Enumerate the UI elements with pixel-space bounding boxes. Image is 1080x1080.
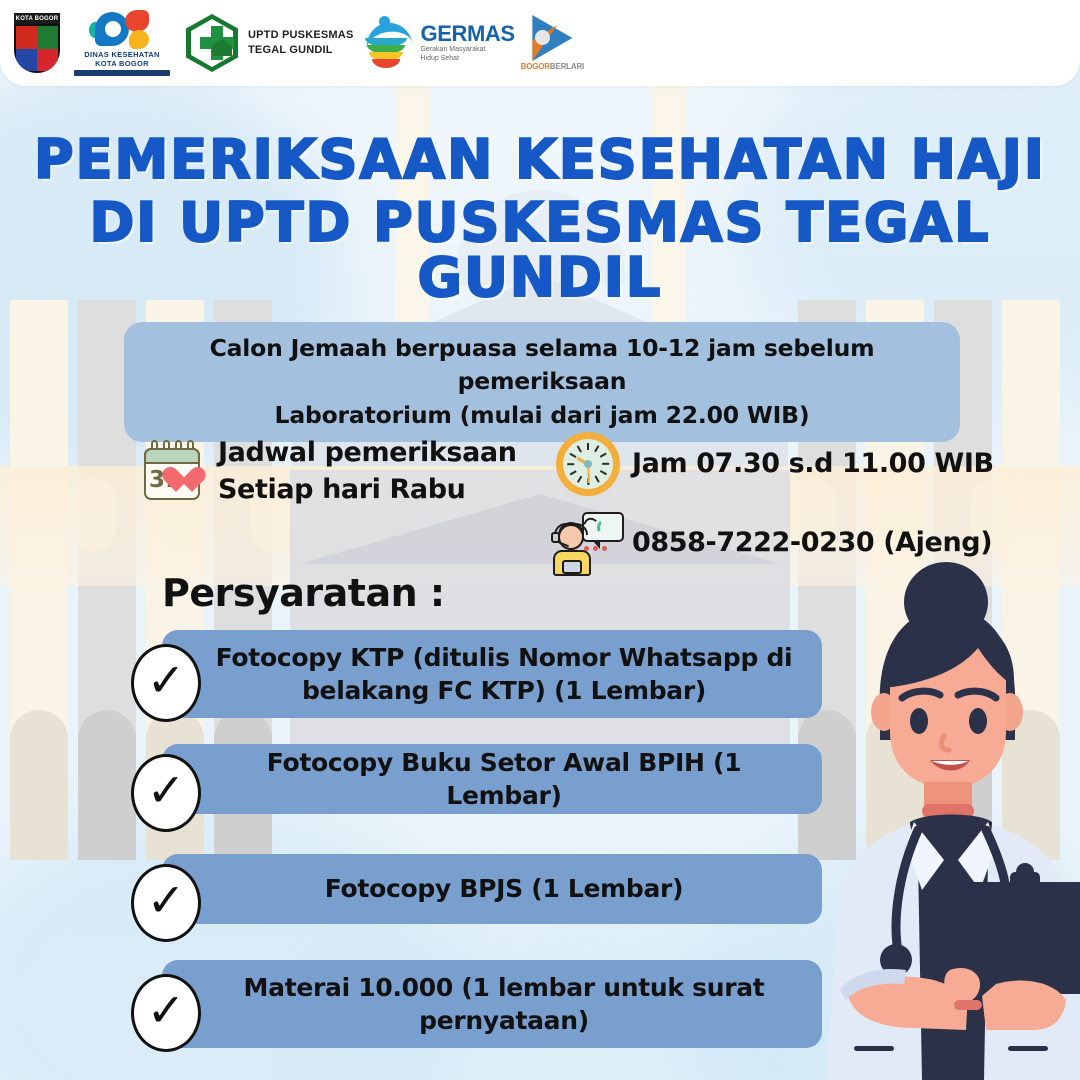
requirement-line-2: belakang FC KTP) (1 Lembar) bbox=[216, 674, 793, 707]
puskesmas-line2: TEGAL GUNDIL bbox=[248, 43, 353, 58]
customer-service-icon bbox=[548, 510, 620, 576]
germas-logo: GERMAS Gerakan Masyarakat Hidup Sehat bbox=[359, 14, 514, 72]
kota-bogor-emblem: KOTA BOGOR bbox=[14, 13, 60, 73]
title-line-1: PEMERIKSAAN KESEHATAN HAJI bbox=[0, 132, 1080, 187]
requirement-line-1: Fotocopy KTP (ditulis Nomor Whatsapp di bbox=[216, 641, 793, 674]
dinkes-line2: KOTA BOGOR bbox=[84, 59, 159, 68]
check-icon: ✓ bbox=[131, 864, 201, 942]
check-icon: ✓ bbox=[131, 754, 201, 832]
heart-icon bbox=[170, 466, 200, 494]
green-hex-cross-icon bbox=[184, 13, 240, 73]
requirement-pill: Fotocopy Buku Setor Awal BPIH (1 Lembar) bbox=[162, 744, 822, 814]
germas-sub1: Gerakan Masyarakat bbox=[420, 46, 514, 55]
hours-text: Jam 07.30 s.d 11.00 WIB bbox=[632, 445, 994, 482]
check-glyph: ✓ bbox=[147, 767, 186, 813]
requirement-pill: Fotocopy BPJS (1 Lembar) bbox=[162, 854, 822, 924]
bogor-berlari-word-b: BERLARI bbox=[550, 62, 584, 71]
requirement-line-1: Fotocopy BPJS (1 Lembar) bbox=[325, 872, 683, 905]
logo-bar: KOTA BOGOR DINAS KESEHATAN KOTA BOGOR bbox=[0, 0, 1080, 86]
fasting-notice-banner: Calon Jemaah berpuasa selama 10-12 jam s… bbox=[124, 322, 960, 442]
poster-title: PEMERIKSAAN KESEHATAN HAJI DI UPTD PUSKE… bbox=[0, 132, 1080, 305]
puskesmas-line1: UPTD PUSKESMAS bbox=[248, 28, 353, 43]
germas-sub2: Hidup Sehat bbox=[420, 55, 514, 64]
requirements-heading: Persyaratan : bbox=[162, 571, 445, 615]
requirement-pill: Fotocopy KTP (ditulis Nomor Whatsapp di … bbox=[162, 630, 822, 718]
dinkes-mark-icon bbox=[85, 10, 159, 50]
germas-wordmark: GERMAS bbox=[420, 23, 514, 45]
bogor-berlari-mark-icon bbox=[528, 15, 576, 61]
schedule-info: 31 Jadwal pemeriksaan Setiap hari Rabu bbox=[140, 434, 560, 509]
germas-figure-icon bbox=[359, 14, 415, 72]
requirement-pill: Materai 10.000 (1 lembar untuk surat per… bbox=[162, 960, 822, 1048]
check-icon: ✓ bbox=[131, 974, 201, 1052]
schedule-line-2: Setiap hari Rabu bbox=[218, 471, 517, 508]
contact-phone-text: 0858-7222-0230 (Ajeng) bbox=[632, 524, 992, 561]
schedule-line-1: Jadwal pemeriksaan bbox=[218, 434, 517, 471]
female-doctor-illustration bbox=[818, 560, 1080, 1080]
bogor-berlari-word-a: BOGOR bbox=[521, 62, 550, 71]
title-line-2: DI UPTD PUSKESMAS TEGAL GUNDIL bbox=[0, 195, 1080, 305]
fasting-line-2: Laboratorium (mulai dari jam 22.00 WIB) bbox=[275, 399, 810, 432]
clock-icon bbox=[556, 432, 620, 496]
poster-canvas: KOTA BOGOR DINAS KESEHATAN KOTA BOGOR bbox=[0, 0, 1080, 1080]
fasting-line-1: Calon Jemaah berpuasa selama 10-12 jam s… bbox=[142, 332, 942, 399]
bogor-berlari-logo: BOGORBERLARI bbox=[521, 15, 584, 71]
requirement-line-1: Fotocopy Buku Setor Awal BPIH (1 Lembar) bbox=[208, 746, 800, 813]
uptd-puskesmas-logo: UPTD PUSKESMAS TEGAL GUNDIL bbox=[184, 13, 353, 73]
kota-bogor-label: KOTA BOGOR bbox=[14, 13, 60, 24]
dinkes-tagline-bar bbox=[74, 70, 170, 76]
dinkes-line1: DINAS KESEHATAN bbox=[84, 50, 159, 59]
hours-info: Jam 07.30 s.d 11.00 WIB bbox=[556, 432, 994, 496]
check-glyph: ✓ bbox=[147, 657, 186, 703]
calendar-icon: 31 bbox=[140, 438, 206, 504]
check-glyph: ✓ bbox=[147, 987, 186, 1033]
check-glyph: ✓ bbox=[147, 877, 186, 923]
dinas-kesehatan-logo: DINAS KESEHATAN KOTA BOGOR bbox=[66, 10, 178, 77]
check-icon: ✓ bbox=[131, 644, 201, 722]
requirement-line-2: pernyataan) bbox=[244, 1004, 765, 1037]
requirement-line-1: Materai 10.000 (1 lembar untuk surat bbox=[244, 971, 765, 1004]
